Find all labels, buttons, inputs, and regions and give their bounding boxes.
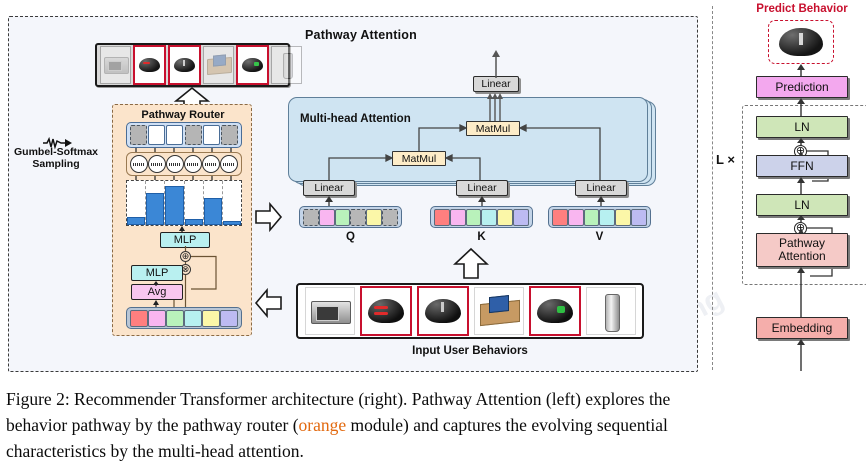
arrow-left-input-to-router-icon [256,289,282,317]
caption-line-2b: module) and captures the evolving sequen… [346,415,668,435]
mouse-icon [368,299,404,323]
gumbel-softmax-sampling-label: Gumbel-SoftmaxSampling [4,146,108,170]
bar [185,219,203,225]
router-mask-cell [130,125,147,145]
thermos-bottle-icon [605,294,620,332]
k-cell [481,209,497,226]
k-cell [450,209,466,226]
predicted-behavior-box [768,20,834,64]
figure-canvas: zhang yapen g0608 ankuai zhang Pathway A… [0,0,866,466]
mouse-icon [779,28,823,56]
router-mask-cell [185,125,202,145]
arrow-avg-to-mlp [152,281,160,286]
input-behaviors-label: Input User Behaviors [296,345,644,357]
mouse-icon [242,58,263,72]
output-item-gaming-mouse-red [133,45,166,85]
layer-repeat-label: L × [716,152,735,167]
router-avg-block: Avg [131,284,183,300]
embedding-block: Embedding [756,317,848,339]
pathway-router-title: Pathway Router [128,109,238,121]
arrow-right-router-to-attention-icon [256,203,282,231]
mouse-icon [537,299,573,323]
caption-line-2a: behavior pathway by the pathway router ( [6,415,299,435]
gumbel-node [184,155,202,173]
output-item-package-box [203,46,234,84]
package-box-icon [480,300,520,326]
gumbel-node [148,155,166,173]
bar [127,217,145,225]
gumbel-node [130,155,148,173]
input-item-toaster-oven [305,287,355,335]
arrow-input-to-embedding [794,339,808,371]
router-mask-cell [203,125,220,145]
v-cell [568,209,584,226]
input-item-gaming-mouse-red [360,286,412,336]
router-mlp-bottom: MLP [131,265,183,281]
pathway-attention-block: Pathway Attention [756,233,848,267]
arrow-ln-to-prediction [794,98,808,116]
prediction-block: Prediction [756,76,848,98]
embedding-cell [220,310,238,327]
k-cell [466,209,482,226]
arrow-embedding-to-pathway [794,267,808,319]
q-cell [366,209,382,226]
embedding-cell [202,310,220,327]
layer-norm-bottom-block: LN [756,194,848,216]
input-behavior-strip [296,283,644,339]
panel-divider [712,6,713,370]
v-cell [615,209,631,226]
mouse-icon [139,58,160,72]
caption-orange-word: orange [299,415,347,435]
q-cell [319,209,335,226]
figure-caption: Figure 2: Recommender Transformer archit… [0,382,866,464]
bar [146,193,164,225]
gumbel-sampling-row [126,152,242,176]
router-mask-row [126,122,242,148]
q-vector-row [299,206,402,228]
q-cell [303,209,319,226]
k-cell [434,209,450,226]
output-behavior-strip [95,43,290,87]
embedding-cell [130,310,148,327]
bar-cell [146,181,165,225]
input-item-package-box [474,287,524,335]
embedding-cell [148,310,166,327]
output-item-gaming-mouse-green [236,45,269,85]
embedding-cell [184,310,202,327]
mouse-icon [174,58,195,72]
bar-cell [223,181,241,225]
v-vector-row [548,206,651,228]
pathway-attention-line1: Pathway [779,236,825,250]
q-cell [382,209,398,226]
arrow-linear-to-output [484,50,508,78]
toaster-oven-icon [104,57,129,74]
output-item-thermos-bottle [271,46,302,84]
arrow-up-input-to-qkv-icon [451,249,491,279]
q-label: Q [299,231,402,243]
v-cell [599,209,615,226]
pathway-attention-title: Pathway Attention [305,28,417,42]
router-input-embedding-row [126,307,242,329]
router-mask-cell [148,125,165,145]
router-mask-cell [221,125,238,145]
attention-internal-wiring [300,118,620,186]
q-cell [335,209,351,226]
router-mask-cell [166,125,183,145]
output-item-office-mouse-black [168,45,201,85]
bar [204,198,222,225]
bar-cell [185,181,204,225]
k-label: K [430,231,533,243]
k-vector-row [430,206,533,228]
bar [165,186,183,225]
caption-line-3: characteristics by the multi-head attent… [6,438,860,464]
v-label: V [548,231,651,243]
linear-k-block: Linear [456,180,508,196]
ffn-block: FFN [756,155,848,177]
bar-cell [127,181,146,225]
gumbel-node [220,155,238,173]
bar [223,221,241,225]
package-box-icon [207,57,232,75]
v-cell [631,209,647,226]
v-cell [584,209,600,226]
caption-line-2: behavior pathway by the pathway router (… [6,412,860,438]
gumbel-node [166,155,184,173]
input-item-office-mouse-black [417,286,469,336]
embedding-cell [166,310,184,327]
gumbel-node [202,155,220,173]
thermos-bottle-icon [283,53,293,79]
bar-cell [204,181,223,225]
arrow-ln-to-ffn [794,177,808,195]
router-probability-bars [126,180,242,226]
output-item-toaster-oven [100,46,131,84]
linear-output-block: Linear [473,76,519,92]
k-cell [497,209,513,226]
caption-line-1: Figure 2: Recommender Transformer archit… [6,389,670,409]
mouse-icon [425,299,461,323]
k-cell [513,209,529,226]
bar-cell [165,181,184,225]
q-cell [350,209,366,226]
input-item-thermos-bottle [586,287,636,335]
predict-behavior-title: Predict Behavior [742,3,862,15]
input-item-gaming-mouse-green [529,286,581,336]
layer-norm-top-block: LN [756,116,848,138]
linear-v-block: Linear [575,180,627,196]
v-cell [552,209,568,226]
pathway-attention-line2: Attention [778,249,825,263]
linear-q-block: Linear [303,180,355,196]
toaster-oven-icon [311,301,351,324]
